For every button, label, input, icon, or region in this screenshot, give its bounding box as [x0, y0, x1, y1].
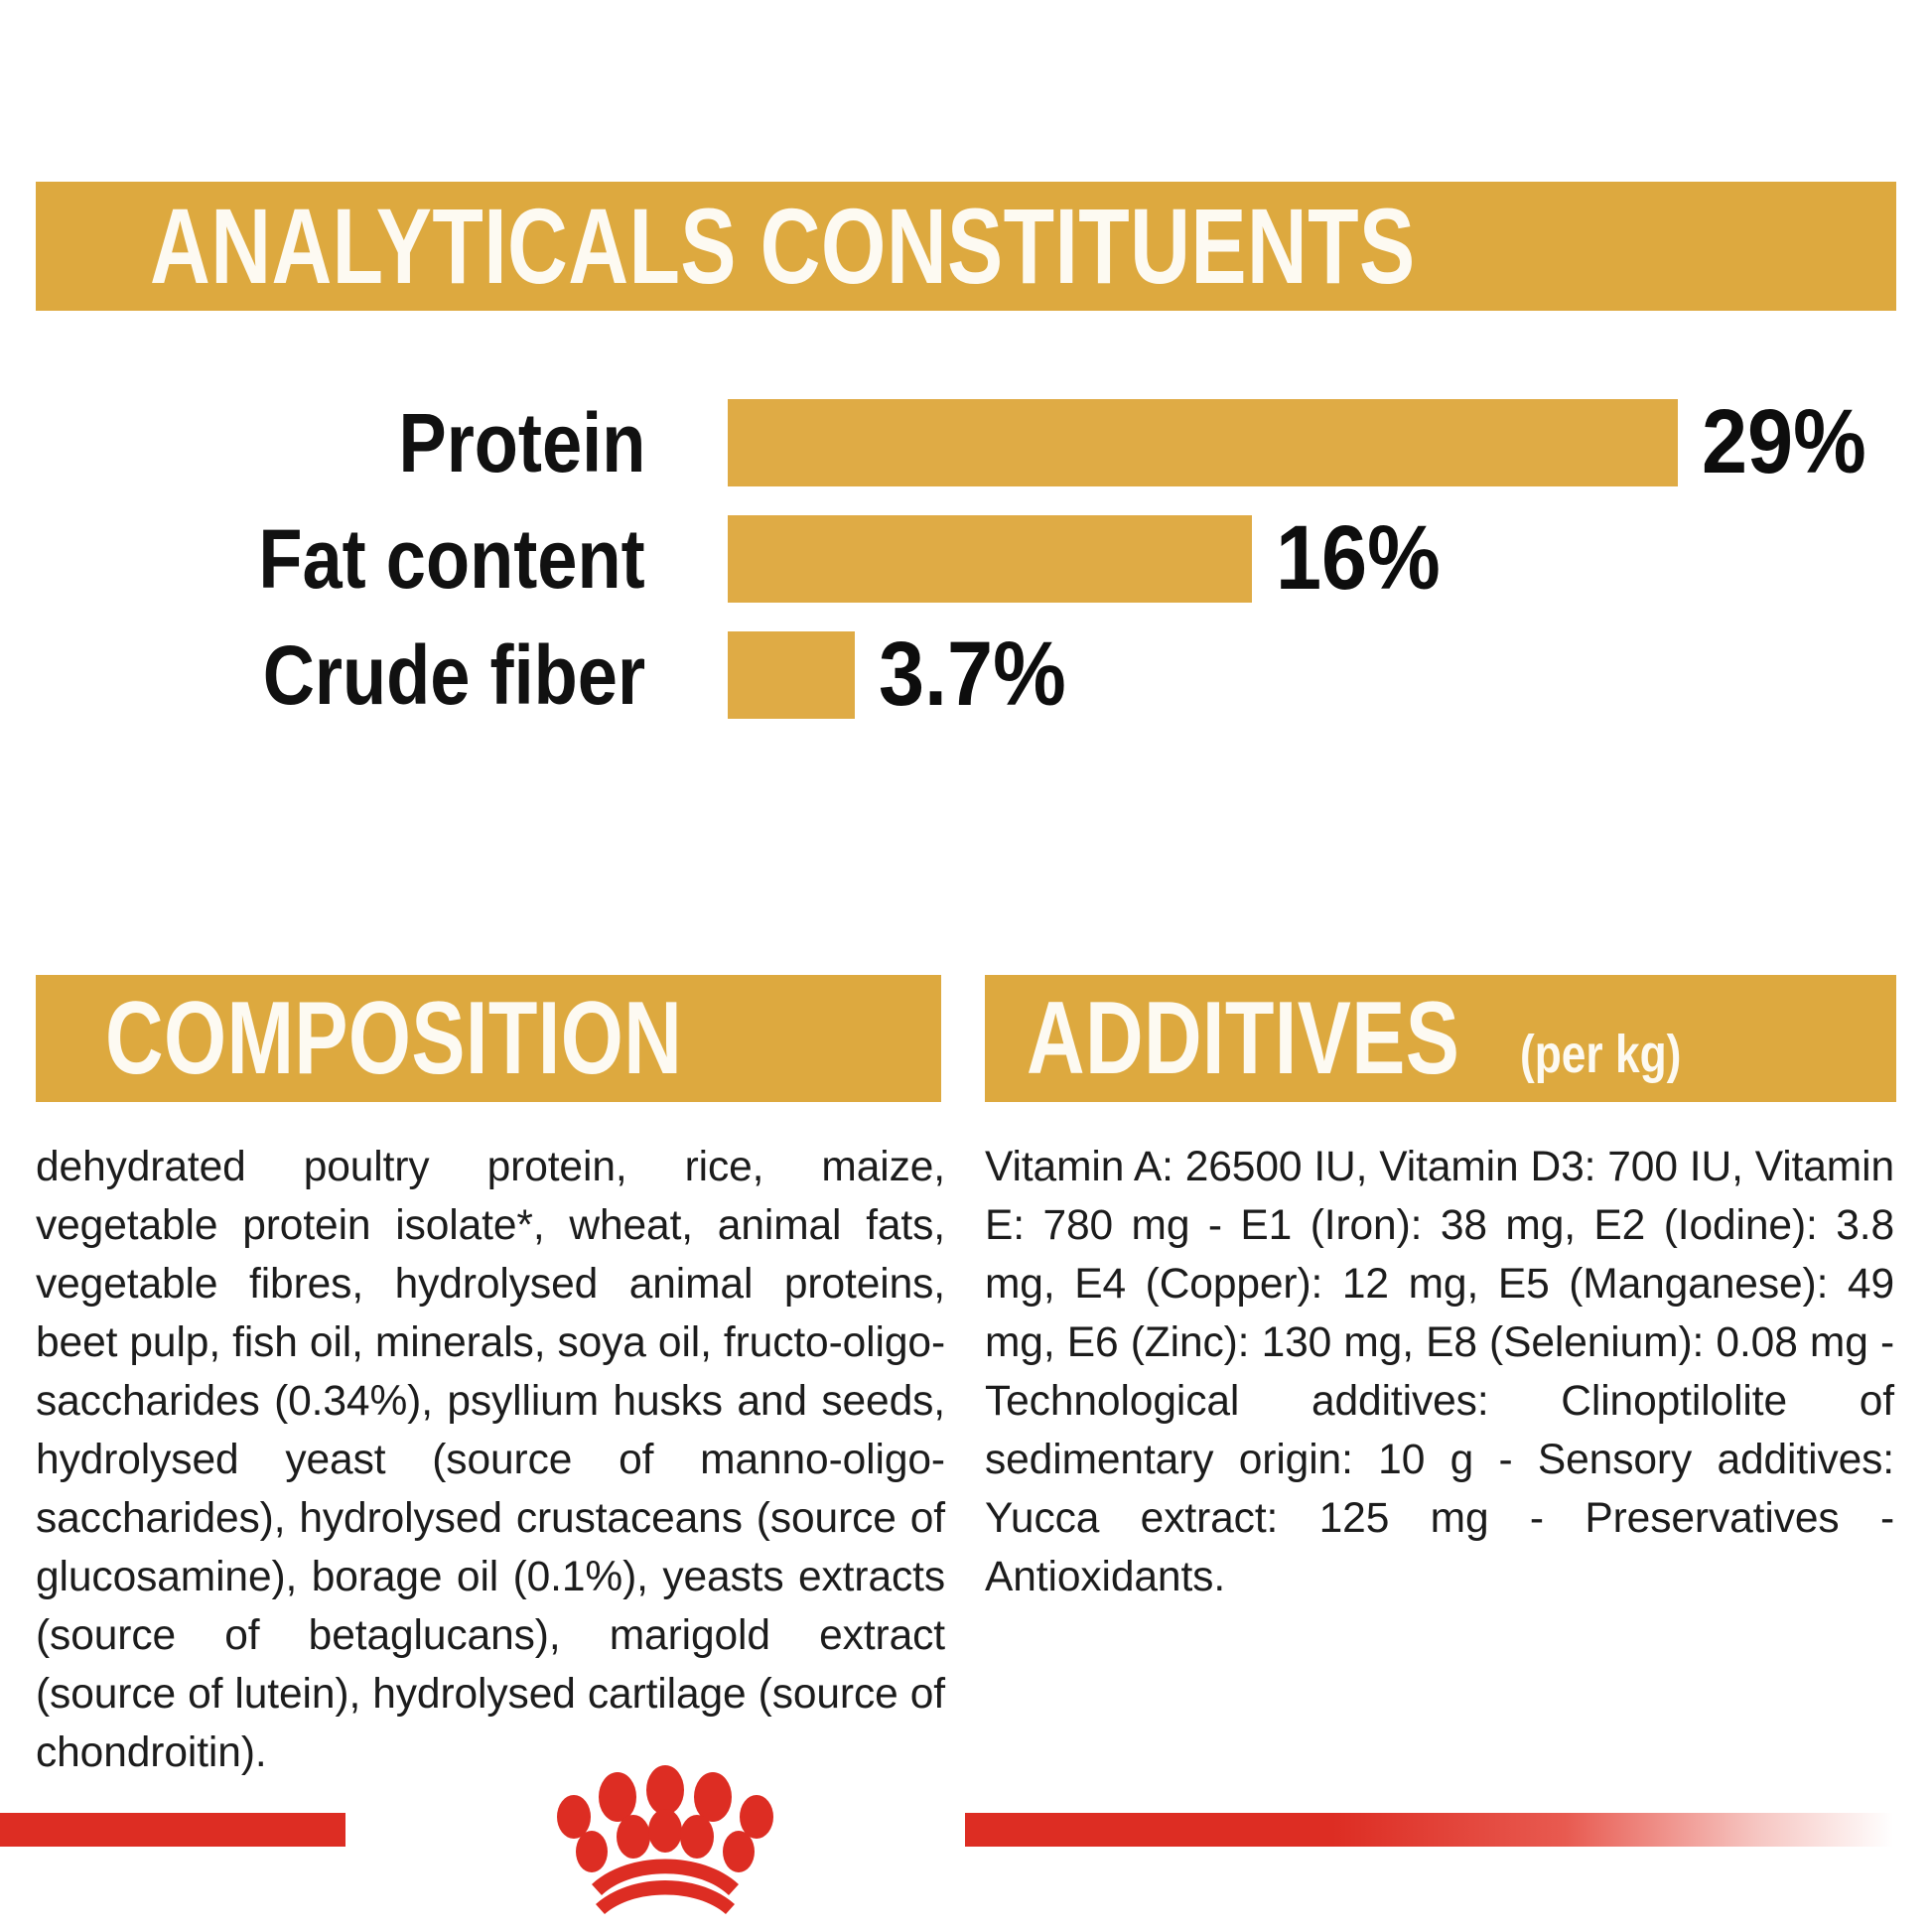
constituents-bar-chart: Protein 29% Fat content 16% Crude fiber …: [0, 377, 1932, 735]
additives-banner: ADDITIVES (per kg): [985, 975, 1896, 1102]
chart-bar-protein: [728, 399, 1678, 486]
chart-value-protein: 29%: [1702, 391, 1866, 494]
chart-value-crude-fiber: 3.7%: [879, 623, 1066, 727]
chart-row: Crude fiber 3.7%: [0, 623, 1932, 727]
footer: [0, 1767, 1932, 1932]
nutrition-panel: ANALYTICALS CONSTITUENTS Protein 29% Fat…: [0, 0, 1932, 1932]
footer-rule-left: [0, 1813, 345, 1847]
chart-row: Protein 29%: [0, 391, 1932, 494]
footer-rule-right: [965, 1813, 1932, 1847]
additives-detail-text: Vitamin A: 26500 IU, Vitamin D3: 700 IU,…: [985, 1138, 1894, 1606]
additives-per-kg-label: (per kg): [1520, 1024, 1681, 1085]
analyticals-constituents-banner: ANALYTICALS CONSTITUENTS: [36, 182, 1896, 311]
chart-value-fat-content: 16%: [1276, 507, 1441, 611]
composition-ingredients-text: dehydrated poultry protein, rice, maize,…: [36, 1138, 945, 1782]
chart-row: Fat content 16%: [0, 507, 1932, 611]
additives-heading: ADDITIVES: [1027, 987, 1459, 1090]
royal-canin-crown-paw-logo: [397, 1759, 933, 1928]
chart-bar-fat-content: [728, 515, 1252, 603]
chart-row-label-crude-fiber: Crude fiber: [263, 623, 645, 727]
composition-banner: COMPOSITION: [36, 975, 941, 1102]
composition-heading: COMPOSITION: [105, 987, 682, 1090]
analyticals-constituents-heading: ANALYTICALS CONSTITUENTS: [150, 193, 1416, 300]
chart-row-label-fat-content: Fat content: [259, 507, 645, 611]
chart-bar-crude-fiber: [728, 631, 855, 719]
chart-row-label-protein: Protein: [398, 391, 645, 494]
